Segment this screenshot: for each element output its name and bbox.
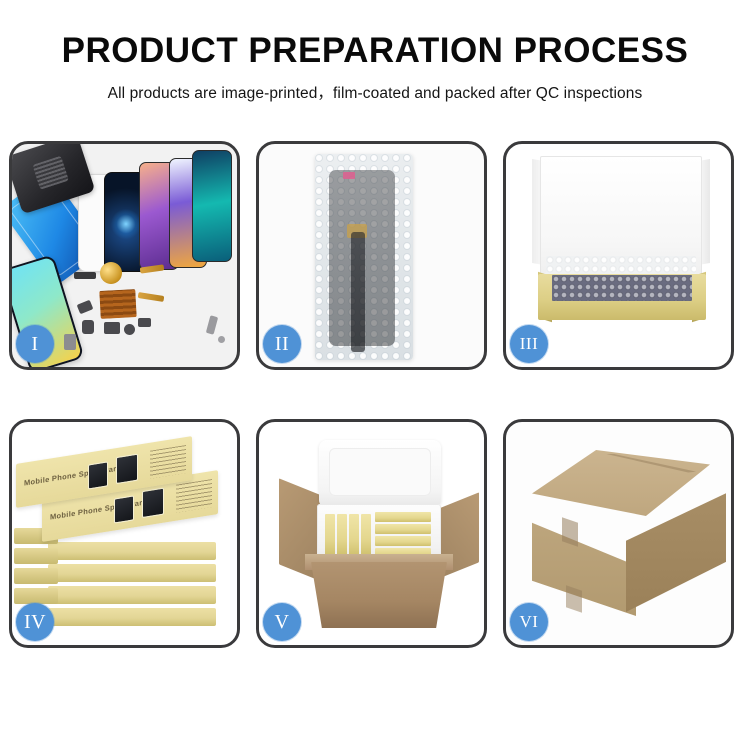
battery-connector-icon	[74, 272, 96, 279]
product-preparation-infographic: PRODUCT PREPARATION PROCESS All products…	[0, 0, 750, 750]
box-layer-3-icon	[48, 564, 216, 582]
box-thumbnail-2-icon	[116, 454, 138, 484]
process-step-panel-5[interactable]: V	[256, 419, 487, 648]
step-badge-2: II	[263, 325, 301, 363]
packed-box-1-icon	[325, 514, 335, 556]
header: PRODUCT PREPARATION PROCESS All products…	[0, 0, 750, 103]
chip-array-icon	[99, 289, 136, 319]
carton-tape-lower-icon	[566, 585, 582, 613]
box-layer-4-icon	[48, 586, 216, 604]
screen-flex-cable-icon	[351, 232, 365, 352]
carton-body-icon	[311, 562, 447, 628]
small-part-4-icon	[124, 324, 135, 335]
box-thumbnail-1-icon	[88, 461, 108, 489]
step-badge-1: I	[16, 325, 54, 363]
box-layer-back-3-icon	[14, 568, 58, 584]
small-part-5-icon	[138, 318, 151, 327]
wireless-coil-icon	[100, 262, 122, 284]
packed-box-7-icon	[375, 536, 431, 546]
packed-box-3-icon	[349, 514, 359, 556]
small-part-1-icon	[77, 300, 94, 315]
step-badge-3: III	[510, 325, 548, 363]
box-layer-5-icon	[48, 608, 216, 626]
box-layer-back-2-icon	[14, 548, 58, 564]
process-step-panel-3[interactable]: III	[503, 141, 734, 370]
step-badge-4: IV	[16, 603, 54, 641]
bubble-wrap-fill-icon	[552, 275, 692, 301]
box-layer-back-4-icon	[14, 588, 58, 604]
packed-box-2-icon	[337, 514, 347, 556]
foam-lid-icon	[319, 440, 441, 508]
box-spec-lines-2-icon	[176, 479, 212, 513]
qc-label-icon	[343, 172, 355, 179]
bubble-wrap-bag-icon	[315, 154, 413, 360]
carton-tape-upper-icon	[562, 517, 578, 547]
process-step-panel-4[interactable]: Mobile Phone Spare Parts Mobile Phone Sp…	[9, 419, 240, 648]
page-title: PRODUCT PREPARATION PROCESS	[0, 33, 750, 70]
carton-top-face-icon	[532, 450, 710, 516]
flex-cable-2-icon	[138, 292, 165, 302]
packed-box-5-icon	[375, 512, 431, 522]
small-part-3-icon	[104, 322, 120, 334]
box-label-1: Mobile Phone Spare Parts	[24, 463, 124, 488]
screwdriver-icon	[206, 315, 218, 334]
page-subtitle: All products are image-printed，film-coat…	[0, 81, 750, 103]
screw-icon	[218, 336, 225, 343]
small-part-2-icon	[82, 320, 94, 334]
step-badge-6: VI	[510, 603, 548, 641]
packed-box-6-icon	[375, 524, 431, 534]
box-spec-lines-1-icon	[150, 445, 186, 479]
phone-screen-teal-icon	[192, 150, 232, 262]
box-layer-2-icon	[48, 542, 216, 560]
step-badge-5: V	[263, 603, 301, 641]
process-step-panel-1[interactable]: I	[9, 141, 240, 370]
small-part-6-icon	[64, 334, 76, 350]
box-label-2: Mobile Phone Spare Parts	[50, 497, 150, 522]
box-thumbnail-3-icon	[114, 495, 134, 523]
process-step-panel-6[interactable]: VI	[503, 419, 734, 648]
process-step-grid: I II	[9, 141, 741, 676]
box-thumbnail-4-icon	[142, 488, 164, 518]
packed-box-4-icon	[361, 514, 371, 556]
process-step-panel-2[interactable]: II	[256, 141, 487, 370]
